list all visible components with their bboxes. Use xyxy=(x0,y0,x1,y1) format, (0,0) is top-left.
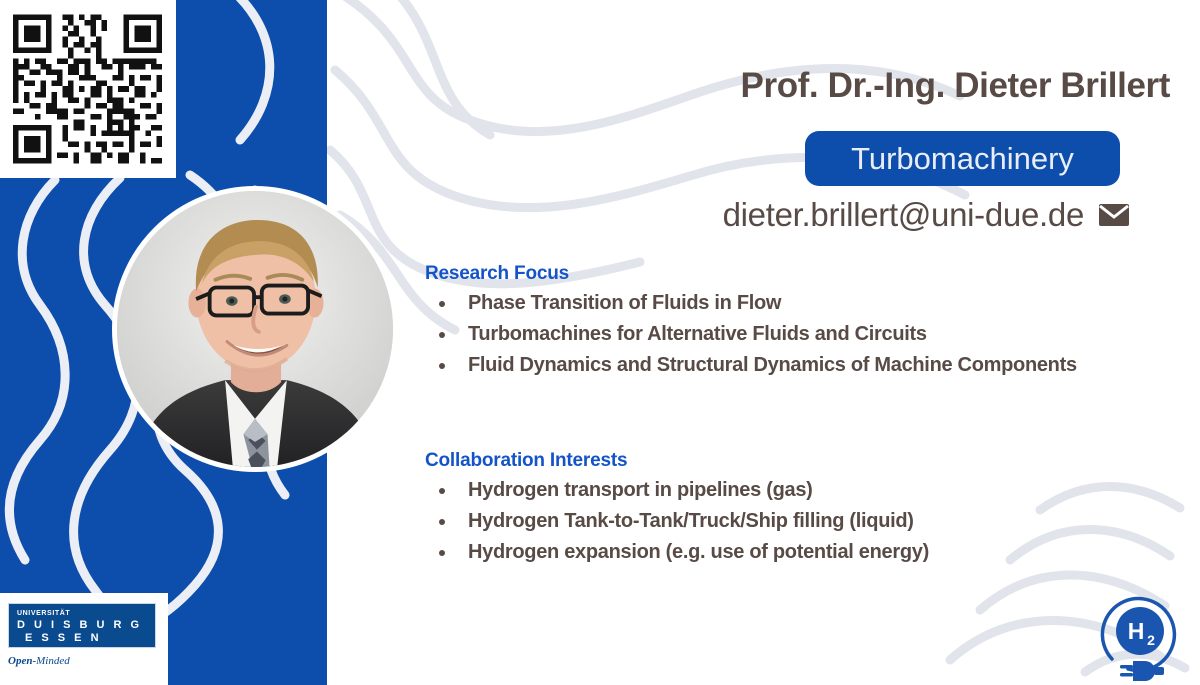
university-logo-line3: E S S E N xyxy=(25,632,155,645)
university-logo-box: UNIVERSITÄT D U I S B U R G E S S E N xyxy=(8,603,156,648)
university-tagline: Open-Minded xyxy=(8,655,158,667)
list-item: Turbomachines for Alternative Fluids and… xyxy=(425,319,1165,350)
tagline-bold: Open- xyxy=(8,655,36,667)
research-focus-list: Phase Transition of Fluids in Flow Turbo… xyxy=(425,288,1165,381)
university-logo-plate: UNIVERSITÄT D U I S B U R G E S S E N Op… xyxy=(0,593,168,685)
email-row[interactable]: dieter.brillert@uni-due.de xyxy=(330,196,1130,234)
tagline-rest: Minded xyxy=(36,655,70,667)
status-badge: Turbomachinery xyxy=(805,131,1120,186)
section-title-research: Research Focus xyxy=(425,263,1165,285)
content-column: Prof. Dr.-Ing. Dieter Brillert Turbomach… xyxy=(330,0,1200,685)
university-logo-line1: UNIVERSITÄT xyxy=(17,610,155,618)
list-item: Hydrogen Tank-to-Tank/Truck/Ship filling… xyxy=(425,506,1165,537)
section-research-focus: Research Focus Phase Transition of Fluid… xyxy=(425,263,1165,381)
section-title-collaboration: Collaboration Interests xyxy=(425,450,1165,472)
list-item: Hydrogen transport in pipelines (gas) xyxy=(425,475,1165,506)
section-collaboration-interests: Collaboration Interests Hydrogen transpo… xyxy=(425,450,1165,568)
list-item: Fluid Dynamics and Structural Dynamics o… xyxy=(425,350,1165,381)
hydrogen-subscript: 2 xyxy=(1147,632,1155,648)
contact-card: UNIVERSITÄT D U I S B U R G E S S E N Op… xyxy=(0,0,1200,685)
mail-icon[interactable] xyxy=(1098,203,1130,227)
university-logo-line2: D U I S B U R G xyxy=(17,619,155,632)
hydrogen-logo: H 2 xyxy=(1076,581,1194,685)
collaboration-interests-list: Hydrogen transport in pipelines (gas) Hy… xyxy=(425,475,1165,568)
qr-plate xyxy=(0,0,176,178)
university-logo: UNIVERSITÄT D U I S B U R G E S S E N Op… xyxy=(8,603,158,675)
list-item: Hydrogen expansion (e.g. use of potentia… xyxy=(425,537,1165,568)
email-address[interactable]: dieter.brillert@uni-due.de xyxy=(723,196,1084,234)
page-title: Prof. Dr.-Ing. Dieter Brillert xyxy=(330,66,1170,106)
qr-code[interactable] xyxy=(6,9,169,169)
list-item: Phase Transition of Fluids in Flow xyxy=(425,288,1165,319)
hydrogen-symbol: H xyxy=(1128,618,1145,644)
